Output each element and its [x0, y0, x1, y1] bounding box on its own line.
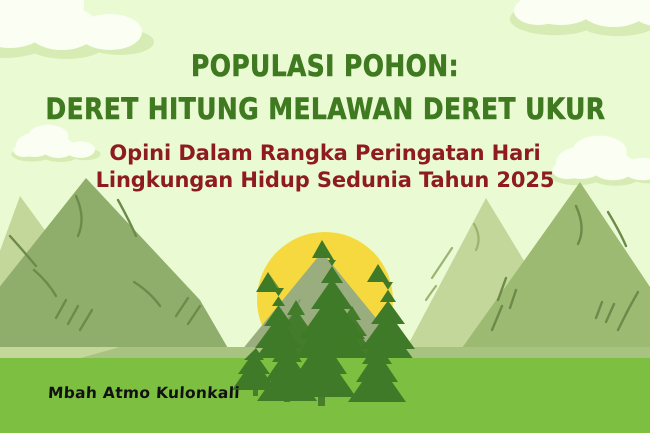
cloud-top-right: [510, 0, 650, 36]
poster-author-name: Mbah Atmo Kulonkali: [48, 384, 241, 402]
scene-illustration: [0, 0, 650, 433]
poster-canvas: POPULASI POHON: DERET HITUNG MELAWAN DER…: [0, 0, 650, 433]
